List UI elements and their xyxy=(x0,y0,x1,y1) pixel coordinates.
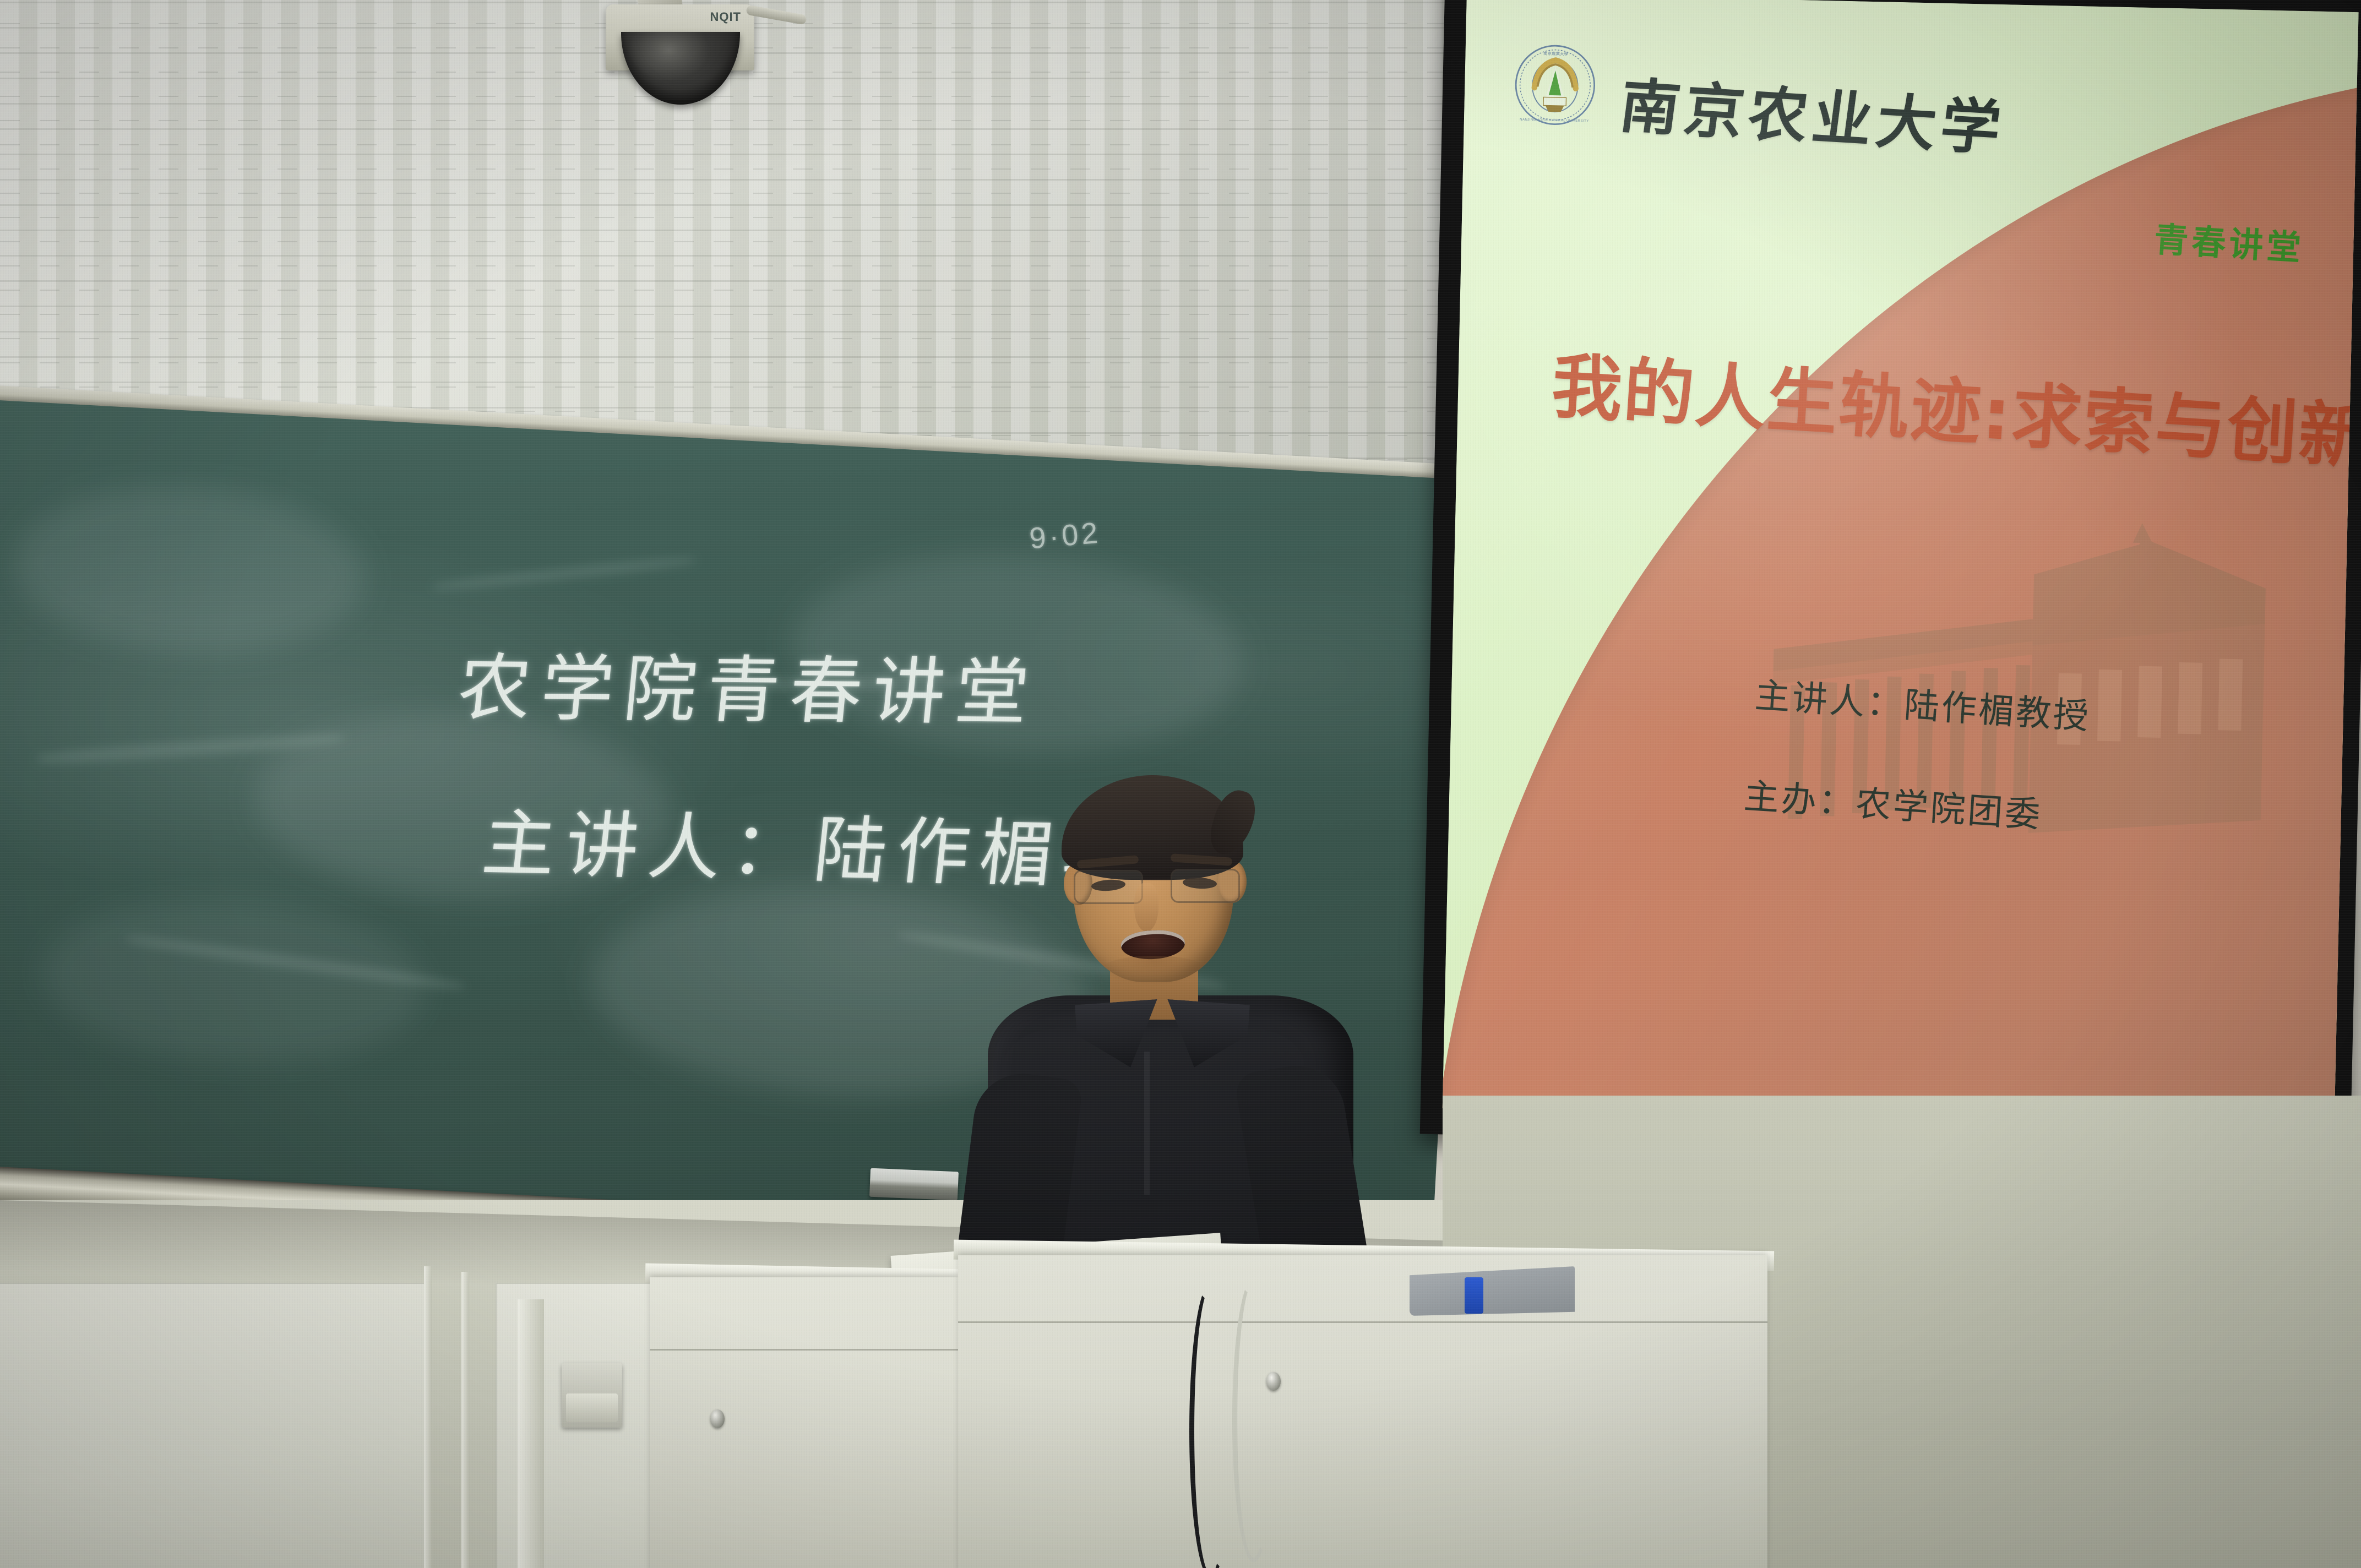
chalkboard-faint-note: 9·02 xyxy=(1028,516,1102,556)
wall-panel-seam-2 xyxy=(461,1272,469,1568)
polo-placket xyxy=(1144,1052,1150,1195)
podium-knob-left[interactable] xyxy=(710,1409,725,1428)
chalkboard-line-1: 农学院青春讲堂 xyxy=(454,629,1044,739)
blue-marker[interactable] xyxy=(1465,1277,1483,1314)
podium-right-cabinet[interactable] xyxy=(958,1255,1767,1568)
wall-panel-left xyxy=(0,1283,429,1568)
speaker-nose xyxy=(1134,883,1158,932)
projection-screen-surface: 南京農業大學 NANJING AGRICULTURAL UNIVERSITY 南… xyxy=(1443,0,2359,1128)
eyeglass-lens-left xyxy=(1074,870,1143,904)
presentation-slide: 南京農業大學 NANJING AGRICULTURAL UNIVERSITY 南… xyxy=(1443,0,2359,1128)
chalkboard-eraser[interactable] xyxy=(869,1168,959,1201)
university-emblem-icon: 南京農業大學 NANJING AGRICULTURAL UNIVERSITY xyxy=(1513,43,1597,127)
projection-screen-frame: 南京農業大學 NANJING AGRICULTURAL UNIVERSITY 南… xyxy=(1420,0,2361,1154)
power-cable xyxy=(1232,1277,1275,1562)
wall-mounted-fixture[interactable] xyxy=(562,1363,622,1428)
wall-panel-seam-3 xyxy=(518,1299,544,1568)
eyeglass-bridge xyxy=(1140,879,1171,880)
slide-university-name: 南京农业大学 xyxy=(1615,58,2011,167)
svg-text:NANJING AGRICULTURAL UNIVERSIT: NANJING AGRICULTURAL UNIVERSITY xyxy=(1520,118,1589,123)
lecture-hall-photo: NQIT 农学院青春讲堂 主讲人：陆作楣教授 9·02 xyxy=(0,0,2361,1568)
slide-series-badge: 青春讲堂 xyxy=(2153,211,2306,270)
podium-left-cabinet[interactable] xyxy=(650,1277,958,1568)
wall-panel-seam-1 xyxy=(424,1266,432,1568)
speaker-chin-shadow xyxy=(1099,956,1209,986)
eyeglass-lens-right xyxy=(1171,869,1240,903)
svg-text:南京農業大學: 南京農業大學 xyxy=(1543,51,1569,57)
camera-brand-label: NQIT xyxy=(710,10,741,24)
audio-cable xyxy=(1189,1283,1232,1568)
